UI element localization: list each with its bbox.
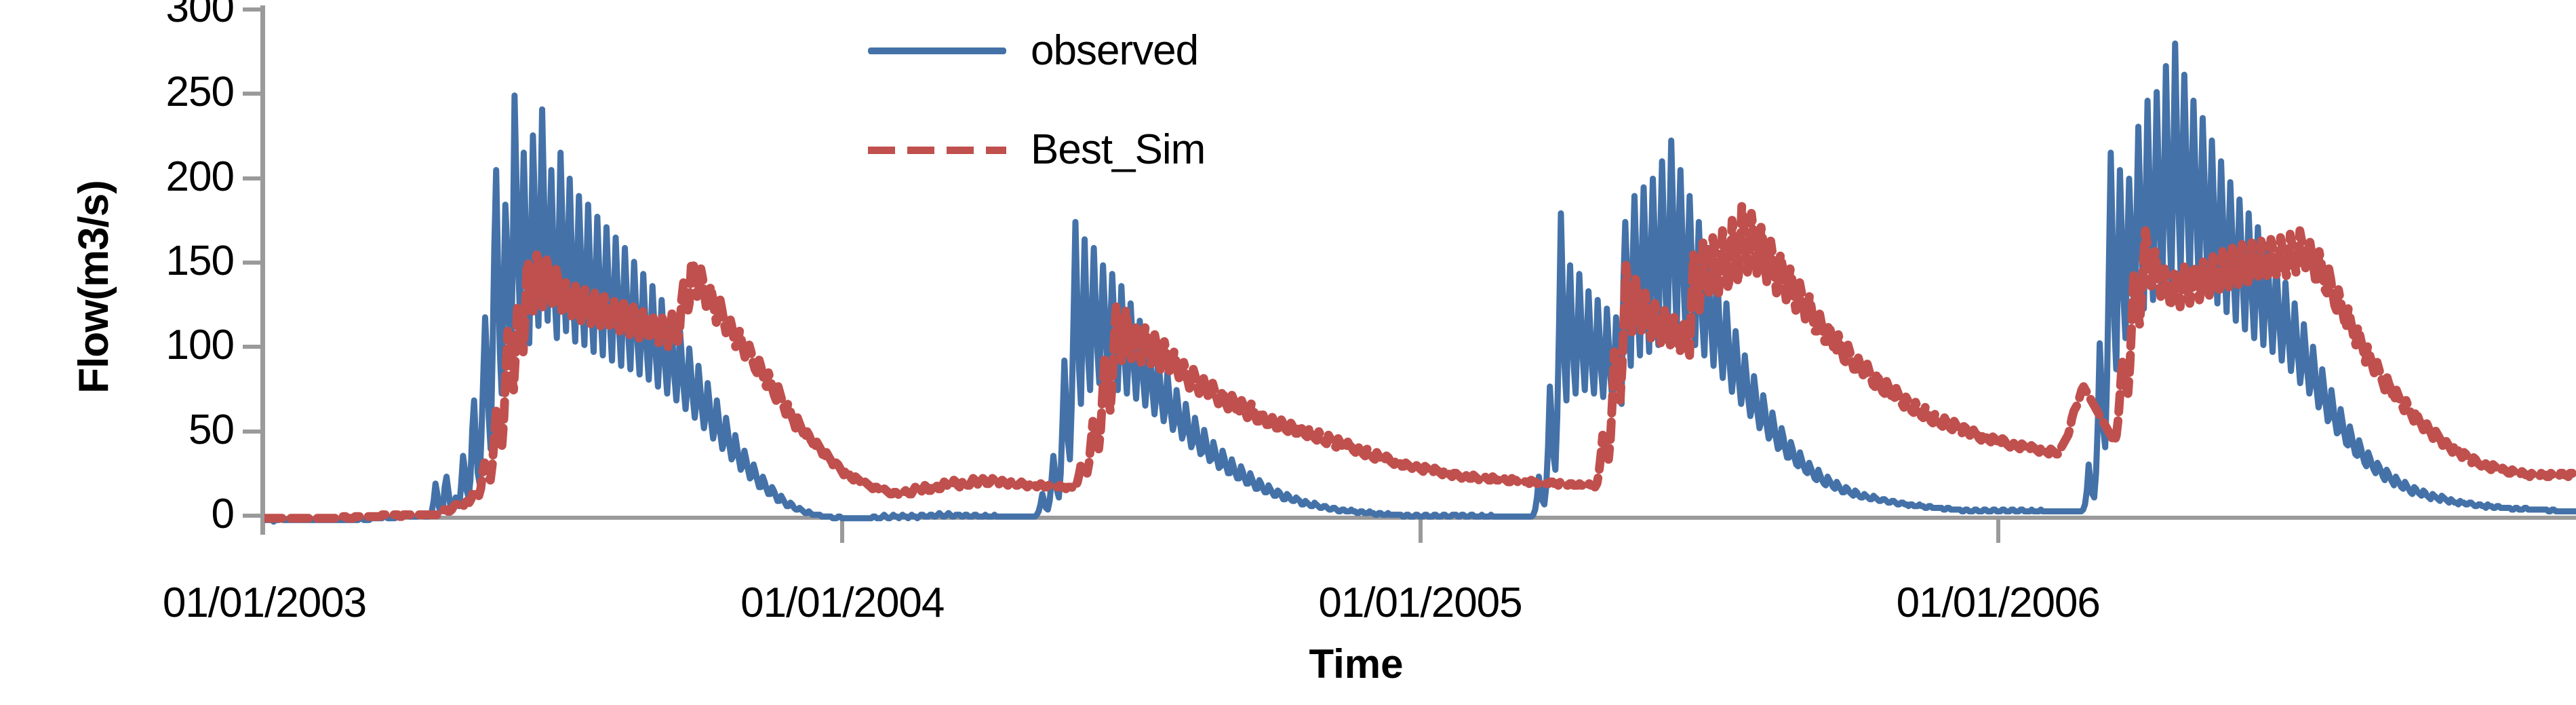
y-axis-tick-mark [243, 345, 262, 349]
y-axis-tick-labels: 050100150200250300 [41, 0, 234, 543]
legend-label-observed: observed [1031, 30, 1198, 72]
y-axis-tick-label: 100 [41, 324, 234, 366]
legend-swatch-observed [868, 47, 1006, 54]
y-axis-tick-mark [243, 430, 262, 434]
plot-area [264, 5, 2576, 525]
y-axis-tick-mark [243, 92, 262, 96]
x-axis-tick-labels: 01/01/200301/01/200401/01/200501/01/2006 [0, 578, 2576, 639]
legend-label-best-sim: Best_Sim [1031, 129, 1205, 171]
y-axis-tick-label: 150 [41, 240, 234, 282]
y-axis-tick-mark [243, 261, 262, 265]
y-axis-tick-mark [243, 514, 262, 518]
series-plot-svg [264, 5, 2576, 525]
x-axis-title: Time [1153, 641, 1560, 687]
x-axis-tick-label: 01/01/2005 [1210, 578, 1631, 628]
x-axis-tick-label: 01/01/2004 [632, 578, 1052, 628]
legend-item-observed: observed [868, 22, 1198, 80]
y-axis-tick-label: 250 [41, 71, 234, 113]
legend-swatch-best-sim [868, 147, 1006, 154]
flow-hydrograph-chart: Flow(m3/s) 050100150200250300 01/01/2003… [0, 0, 2576, 705]
y-axis-tick-label: 200 [41, 156, 234, 198]
legend-item-best-sim: Best_Sim [868, 121, 1205, 179]
y-axis-tick-label: 0 [41, 493, 234, 535]
y-axis-tick-label: 50 [41, 409, 234, 451]
chart-legend: observed Best_Sim [868, 22, 1383, 178]
x-axis-tick-label: 01/01/2006 [1788, 578, 2208, 628]
y-axis-tick-mark [243, 7, 262, 12]
y-axis-tick-label: 300 [41, 0, 234, 29]
y-axis-tick-mark [243, 176, 262, 180]
x-axis-tick-label: 01/01/2003 [54, 578, 475, 628]
